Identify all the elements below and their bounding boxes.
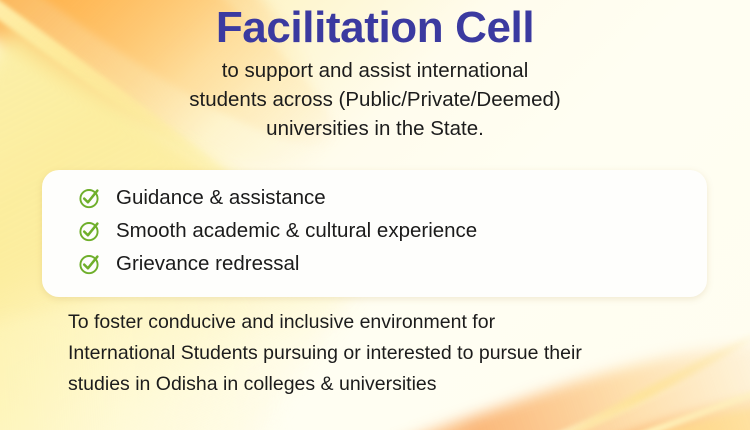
subtitle-line-3: universities in the State.: [0, 114, 750, 143]
check-circle-icon: [78, 219, 102, 243]
footer-line-2: International Students pursuing or inter…: [68, 338, 708, 369]
check-circle-icon: [78, 252, 102, 276]
list-item-label: Grievance redressal: [116, 252, 299, 276]
footer-description: To foster conducive and inclusive enviro…: [68, 307, 708, 400]
subtitle: to support and assist international stud…: [0, 56, 750, 143]
list-item: Smooth academic & cultural experience: [78, 215, 707, 247]
subtitle-line-1: to support and assist international: [0, 56, 750, 85]
list-item-label: Smooth academic & cultural experience: [116, 219, 477, 243]
checklist-card: Guidance & assistance Smooth academic & …: [42, 170, 707, 297]
checklist: Guidance & assistance Smooth academic & …: [78, 182, 707, 280]
poster-canvas: Facilitation Cell to support and assist …: [0, 0, 750, 430]
subtitle-line-2: students across (Public/Private/Deemed): [0, 85, 750, 114]
check-circle-icon: [78, 186, 102, 210]
footer-line-1: To foster conducive and inclusive enviro…: [68, 307, 708, 338]
poster-content: Facilitation Cell to support and assist …: [0, 0, 750, 430]
list-item: Grievance redressal: [78, 248, 707, 280]
page-title: Facilitation Cell: [0, 0, 750, 54]
footer-line-3: studies in Odisha in colleges & universi…: [68, 369, 708, 400]
list-item-label: Guidance & assistance: [116, 186, 326, 210]
list-item: Guidance & assistance: [78, 182, 707, 214]
